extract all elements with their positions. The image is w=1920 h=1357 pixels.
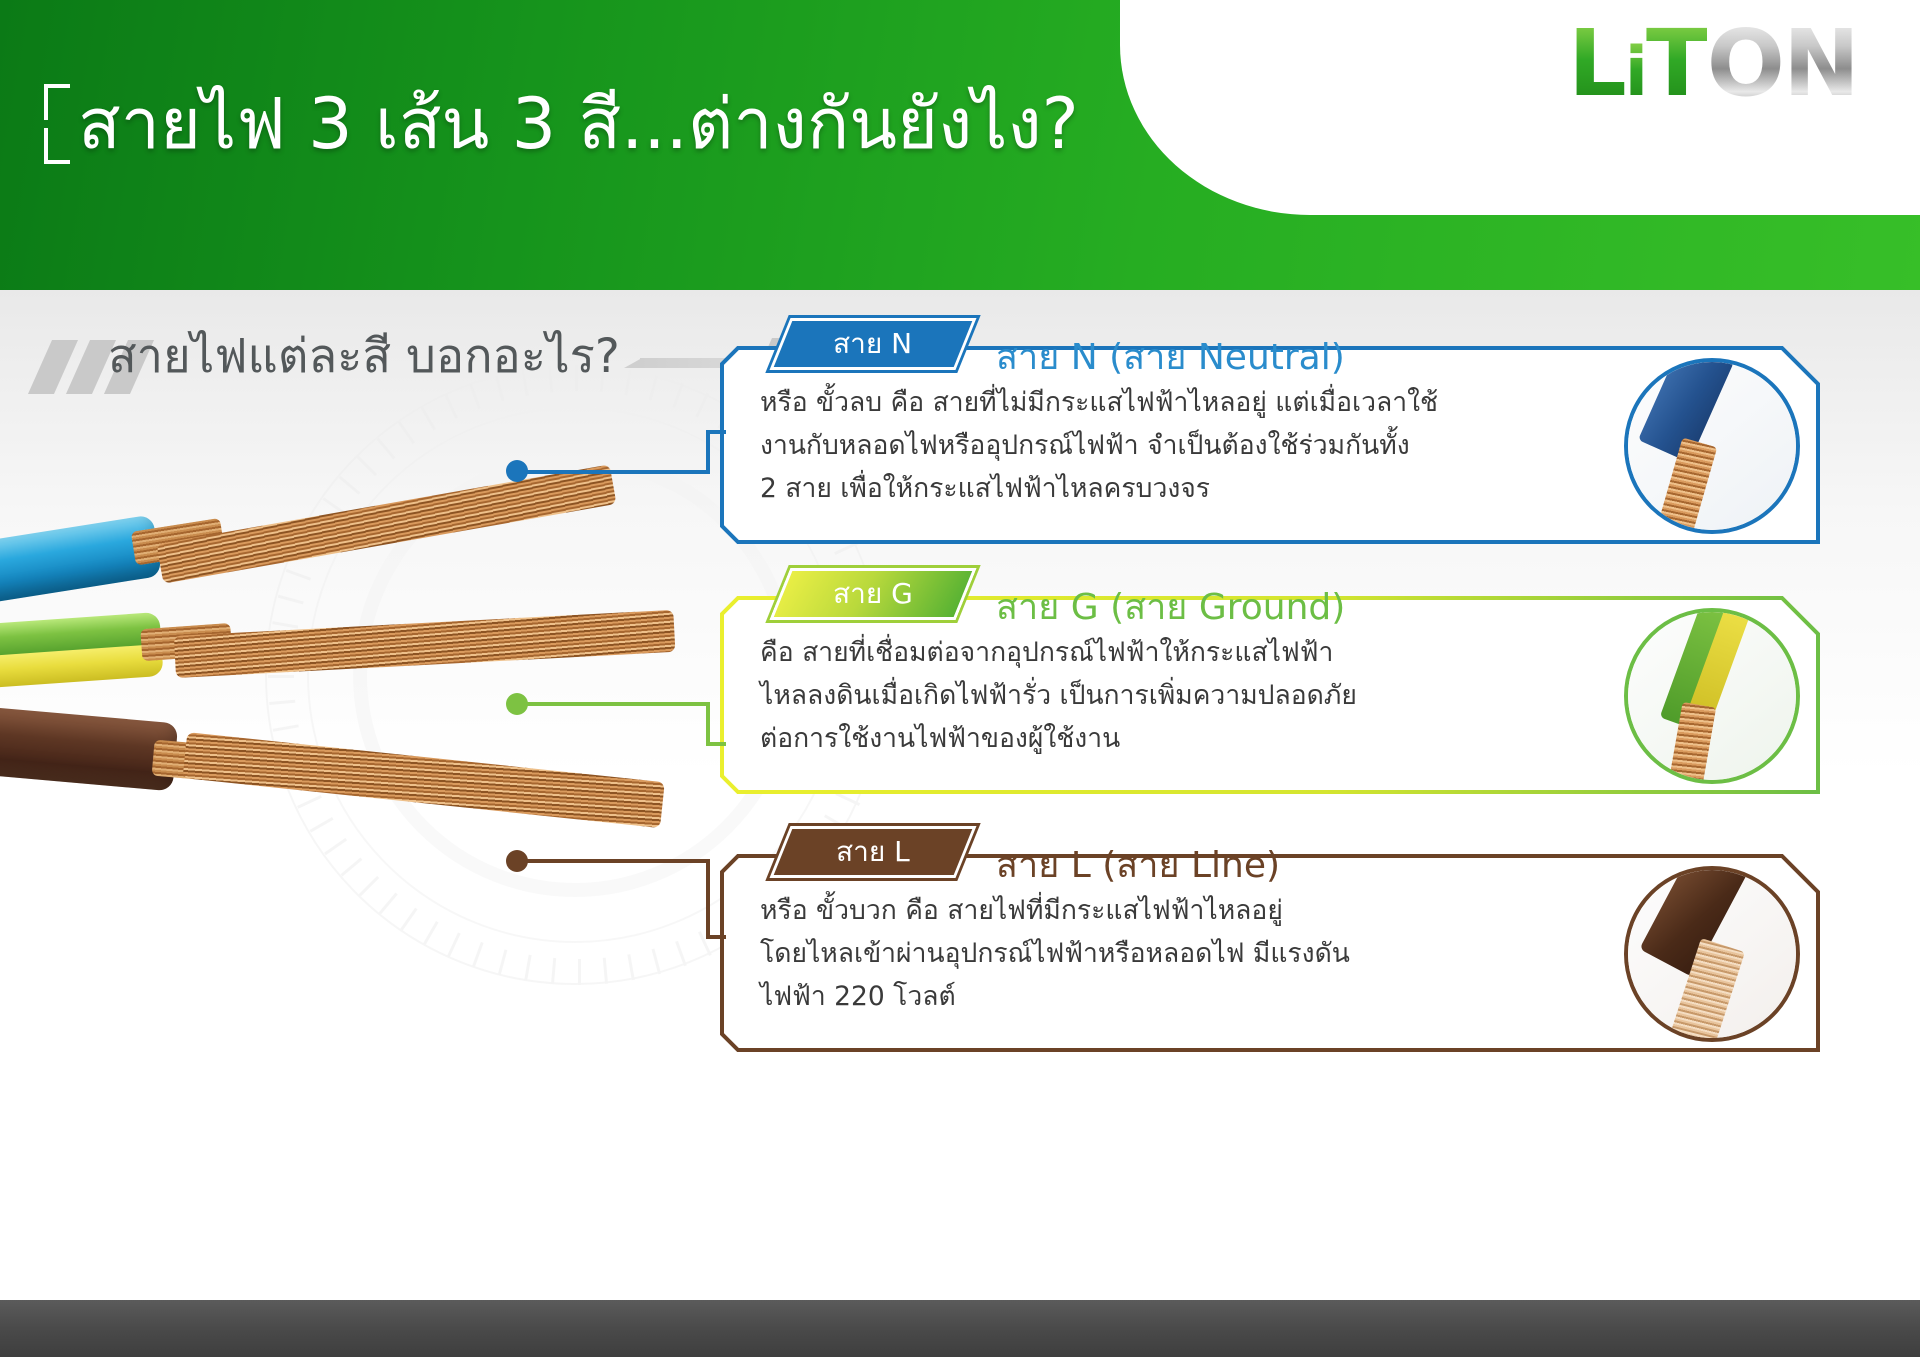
title-bracket-bottom-left xyxy=(44,128,70,164)
card-line-tab-label: สาย L xyxy=(836,830,910,874)
gauge-tick xyxy=(627,954,634,980)
gauge-tick xyxy=(578,959,581,985)
card-neutral-body: หรือ ขั้วลบ คือ สายที่ไม่มีกระแสไฟฟ้าไหล… xyxy=(760,382,1700,511)
gauge-tick xyxy=(624,369,631,395)
section-heading: สายไฟแต่ละสี บอกอะไร? xyxy=(108,318,620,393)
connector-neutral xyxy=(500,430,730,490)
gauge-tick xyxy=(447,932,461,957)
page-title: สายไฟ 3 เส้น 3 สี...ต่างกันยังไง? xyxy=(78,88,1079,162)
card-ground-body-line-2: ไหลลงดินเมื่อเกิดไฟฟ้ารั่ว เป็นการเพิ่มค… xyxy=(760,675,1700,718)
card-neutral[interactable]: สาย N สาย N (สาย Neutral) หรือ ขั้วลบ คื… xyxy=(718,312,1820,562)
connector-line xyxy=(500,855,730,955)
card-neutral-body-line-1: หรือ ขั้วลบ คือ สายที่ไม่มีกระแสไฟฟ้าไหล… xyxy=(760,382,1700,425)
card-line[interactable]: สาย L สาย L (สาย Line) หรือ ขั้วบวก คือ … xyxy=(718,820,1820,1070)
card-ground-body: คือ สายที่เชื่อมต่อจากอุปกรณ์ไฟฟ้าให้กระ… xyxy=(760,632,1700,761)
card-ground-tab-label: สาย G xyxy=(833,572,913,616)
heading-underline-tri xyxy=(624,358,642,368)
gauge-tick xyxy=(472,942,484,967)
gauge-tick xyxy=(420,407,436,431)
card-line-body-line-3: ไฟฟ้า 220 โวลต์ xyxy=(760,976,1700,1019)
card-line-body-line-1: หรือ ขั้วบวก คือ สายไฟที่มีกระแสไฟฟ้าไหล… xyxy=(760,890,1700,933)
footer-bar xyxy=(0,1300,1920,1357)
card-ground-body-line-3: ต่อการใช้งานไฟฟ้าของผู้ใช้งาน xyxy=(760,718,1700,761)
title-bracket-top-left xyxy=(44,84,70,120)
logo-letter-i: i xyxy=(1625,39,1646,107)
gauge-tick xyxy=(524,955,531,981)
gauge-tick xyxy=(695,393,709,418)
gauge-tick xyxy=(649,375,659,401)
card-ground-tab: สาย G xyxy=(769,568,976,620)
logo-letter-l: L xyxy=(1568,18,1625,110)
gauge-tick xyxy=(444,394,458,419)
card-neutral-photo xyxy=(1624,358,1800,534)
logo-letter-o: O xyxy=(1707,18,1783,110)
title-bracket-top-right xyxy=(1506,96,1532,132)
card-line-photo xyxy=(1624,866,1800,1042)
connector-ground xyxy=(500,698,730,758)
gauge-tick xyxy=(603,958,608,984)
gauge-tick xyxy=(423,921,439,945)
card-ground-body-line-1: คือ สายที่เชื่อมต่อจากอุปกรณ์ไฟฟ้าให้กระ… xyxy=(760,632,1700,675)
title-bracket-bottom-right xyxy=(1506,144,1532,180)
card-neutral-title: สาย N (สาย Neutral) xyxy=(996,328,1345,385)
card-line-title: สาย L (สาย Line) xyxy=(996,836,1280,893)
page-header: LiTON สายไฟ 3 เส้น 3 สี...ต่างกันยังไง? xyxy=(0,0,1920,290)
card-ground-title: สาย G (สาย Ground) xyxy=(996,578,1345,635)
card-ground-photo xyxy=(1624,608,1800,784)
content-area: สายไฟแต่ละสี บอกอะไร? สาย N สาย N (สาย N… xyxy=(0,290,1920,1300)
card-neutral-body-line-3: 2 สาย เพื่อให้กระแสไฟฟ้าไหลครบวงจร xyxy=(760,468,1700,511)
card-line-body-line-2: โดยไหลเข้าผ่านอุปกรณ์ไฟฟ้าหรือหลอดไฟ มีแ… xyxy=(760,933,1700,976)
logo-letter-n: N xyxy=(1783,18,1858,110)
card-line-tab: สาย L xyxy=(769,826,976,878)
card-neutral-tab-label: สาย N xyxy=(833,322,912,366)
gauge-tick xyxy=(551,958,556,984)
gauge-tick xyxy=(400,908,417,931)
liton-logo: LiTON xyxy=(1568,18,1858,110)
card-ground[interactable]: สาย G สาย G (สาย Ground) คือ สายที่เชื่อ… xyxy=(718,562,1820,812)
card-neutral-body-line-2: งานกับหลอดไฟหรืออุปกรณ์ไฟฟ้า จำเป็นต้องใ… xyxy=(760,425,1700,468)
logo-letter-t: T xyxy=(1646,18,1707,110)
card-neutral-tab: สาย N xyxy=(769,318,976,370)
gauge-tick xyxy=(672,383,684,408)
card-line-body: หรือ ขั้วบวก คือ สายไฟที่มีกระแสไฟฟ้าไหล… xyxy=(760,890,1700,1019)
wire-illustration xyxy=(0,440,690,900)
copper-strand-ground xyxy=(174,610,676,678)
